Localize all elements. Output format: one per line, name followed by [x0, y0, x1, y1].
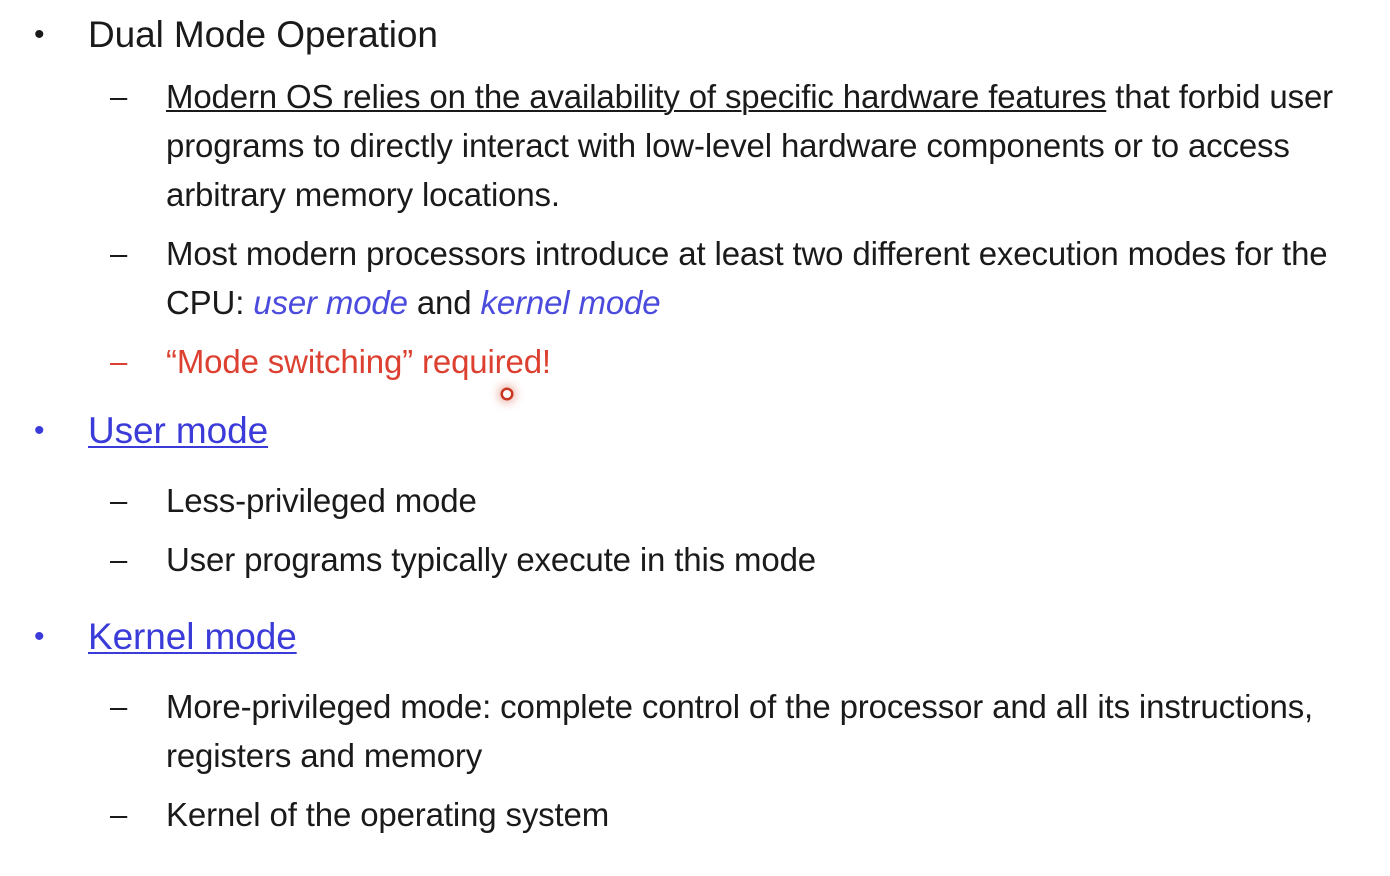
slide-canvas: • Dual Mode Operation – Modern OS relies… [0, 0, 1390, 876]
sub-bullet-user-programs-execute-text: User programs typically execute in this … [166, 535, 816, 584]
bullet-icon: • [10, 8, 88, 62]
dash-icon: – [10, 476, 166, 525]
heading-kernel-mode[interactable]: Kernel mode [88, 610, 297, 664]
spacer [10, 664, 1380, 682]
sub-bullet-more-privileged-text: More-privileged mode: complete control o… [166, 682, 1361, 780]
sub-bullet-modern-os: – Modern OS relies on the availability o… [10, 72, 1380, 219]
spacer [10, 386, 1380, 404]
sub-bullet-mode-switching: – “Mode switching” required! [10, 337, 1380, 386]
spacer [10, 780, 1380, 790]
bullet-icon: • [10, 610, 88, 664]
emphasis-modern-os-lead: Modern OS relies on the availability of … [166, 78, 1106, 115]
bullet-dual-mode-operation: • Dual Mode Operation [10, 8, 1380, 62]
dash-icon: – [10, 72, 166, 121]
emphasis-user-mode: user mode [253, 284, 408, 321]
spacer [10, 219, 1380, 229]
spacer [10, 458, 1380, 476]
sub-bullet-user-programs-execute: – User programs typically execute in thi… [10, 535, 1380, 584]
sub-bullet-modern-os-text: Modern OS relies on the availability of … [166, 72, 1361, 219]
spacer [10, 584, 1380, 610]
sub-bullet-less-privileged-text: Less-privileged mode [166, 476, 477, 525]
sub-bullet-execution-modes: – Most modern processors introduce at le… [10, 229, 1380, 327]
heading-user-mode[interactable]: User mode [88, 404, 268, 458]
bullet-user-mode: • User mode [10, 404, 1380, 458]
execution-modes-conjunction: and [408, 284, 481, 321]
heading-dual-mode-operation: Dual Mode Operation [88, 8, 438, 62]
emphasis-kernel-mode: kernel mode [480, 284, 660, 321]
sub-bullet-less-privileged: – Less-privileged mode [10, 476, 1380, 525]
dash-icon: – [10, 535, 166, 584]
dash-icon: – [10, 790, 166, 839]
dash-icon: – [10, 682, 166, 731]
sub-bullet-mode-switching-text: “Mode switching” required! [166, 337, 551, 386]
dash-icon: – [10, 229, 166, 278]
spacer [10, 327, 1380, 337]
sub-bullet-kernel-of-os: – Kernel of the operating system [10, 790, 1380, 839]
sub-bullet-more-privileged: – More-privileged mode: complete control… [10, 682, 1380, 780]
spacer [10, 525, 1380, 535]
spacer [10, 62, 1380, 72]
dash-icon: – [10, 337, 166, 386]
bullet-kernel-mode: • Kernel mode [10, 610, 1380, 664]
sub-bullet-kernel-of-os-text: Kernel of the operating system [166, 790, 609, 839]
bullet-icon: • [10, 404, 88, 458]
sub-bullet-execution-modes-text: Most modern processors introduce at leas… [166, 229, 1361, 327]
